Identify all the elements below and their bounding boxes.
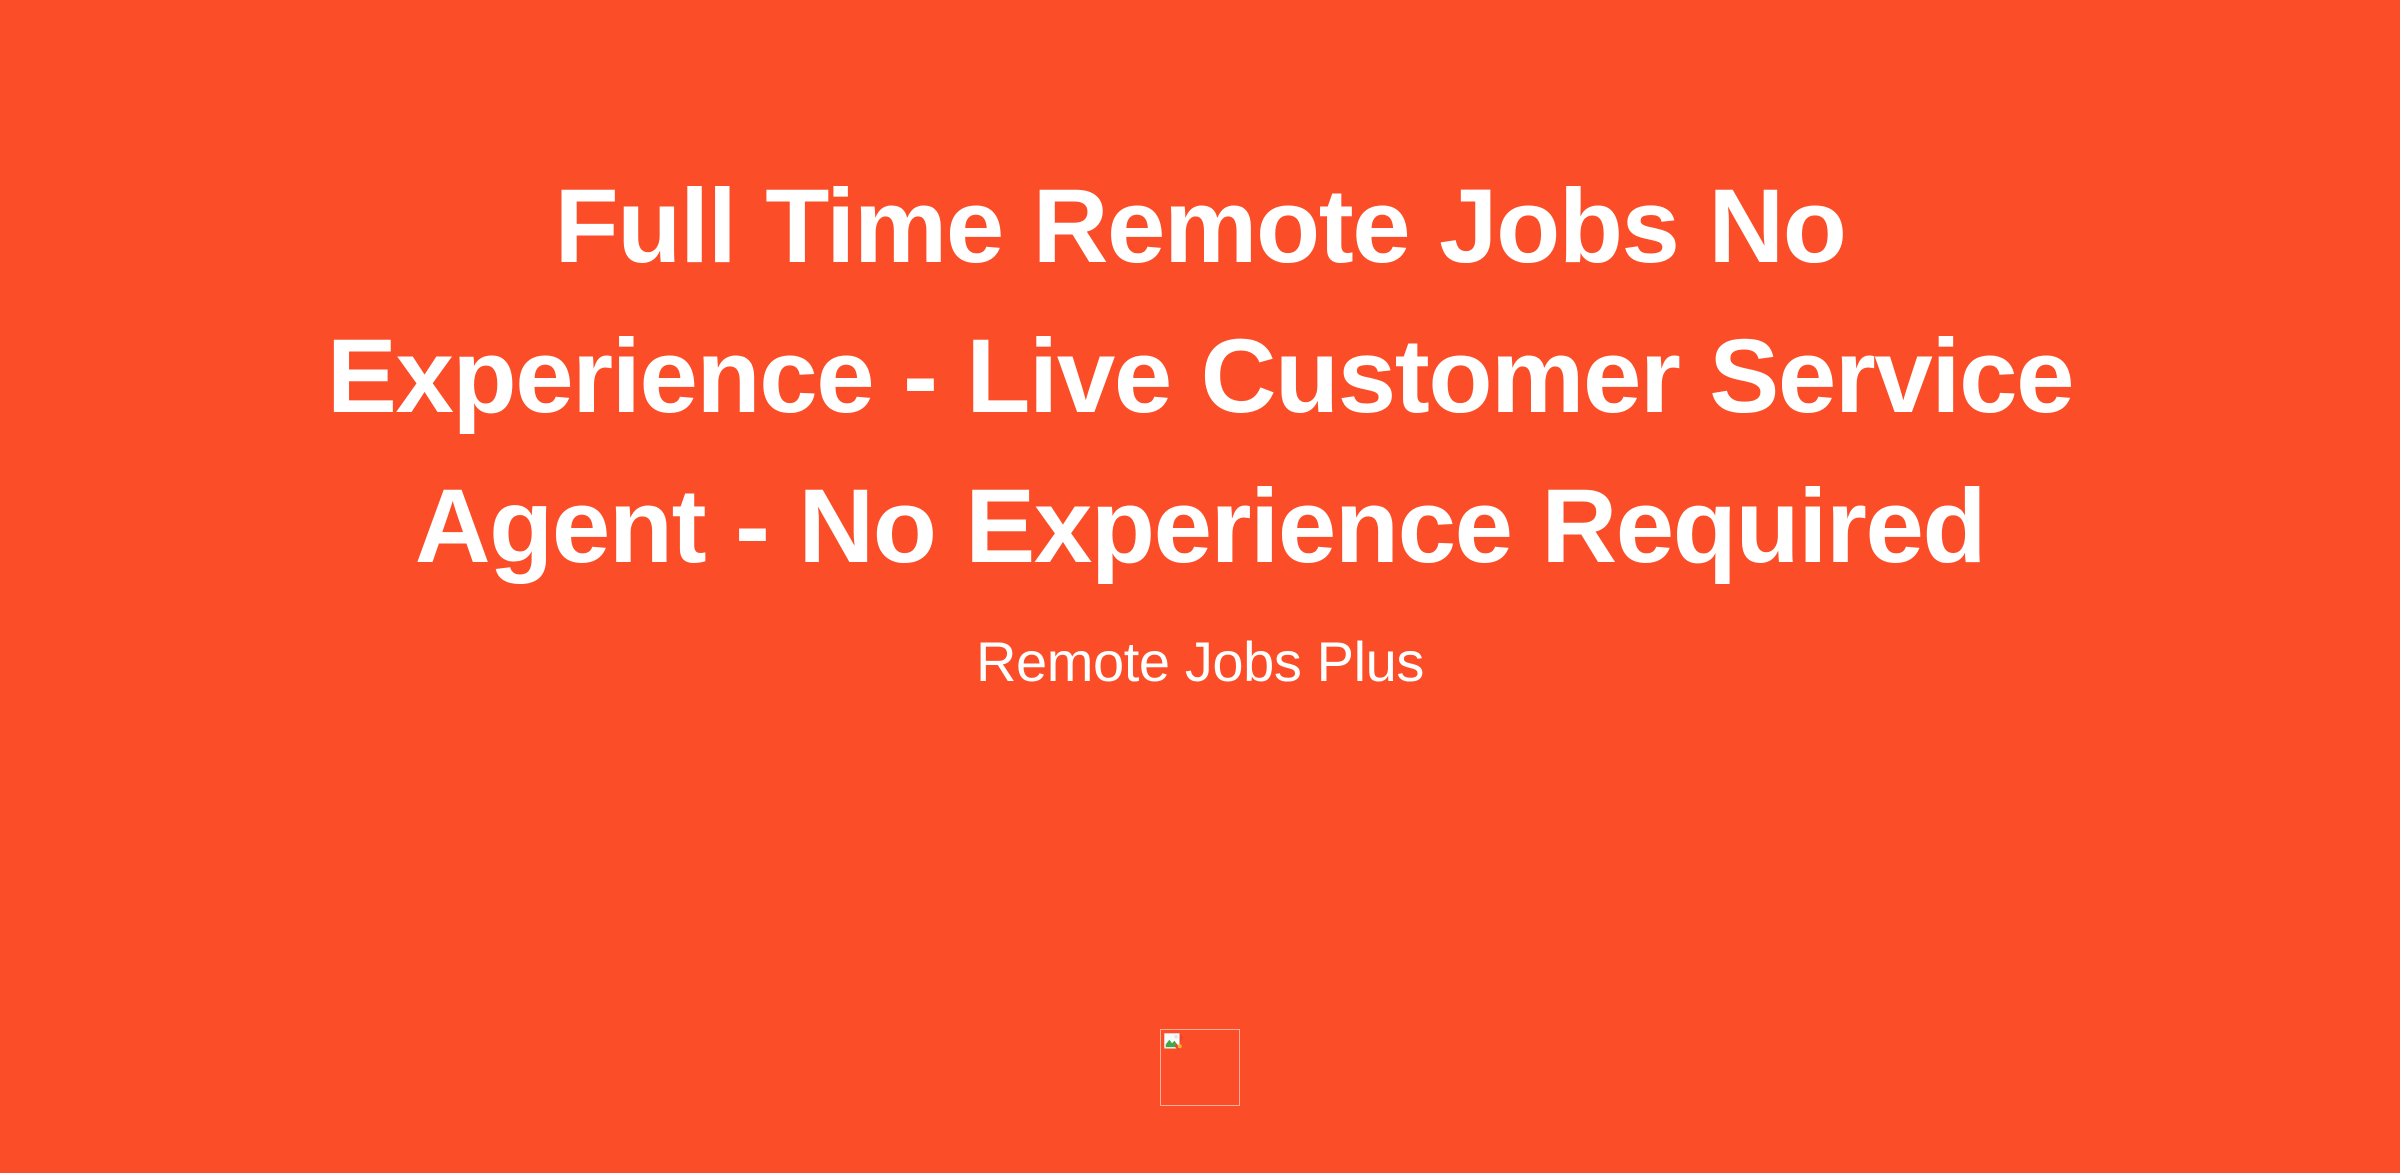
broken-image-icon bbox=[1163, 1032, 1185, 1054]
hero-text-block: Full Time Remote Jobs No Experience - Li… bbox=[320, 0, 2080, 694]
hero-card: Full Time Remote Jobs No Experience - Li… bbox=[0, 0, 2400, 1173]
broken-image-placeholder bbox=[1160, 1029, 1240, 1106]
site-name-subtitle: Remote Jobs Plus bbox=[320, 630, 2080, 694]
hero-image-row bbox=[0, 1029, 2400, 1106]
page-title: Full Time Remote Jobs No Experience - Li… bbox=[320, 152, 2080, 602]
